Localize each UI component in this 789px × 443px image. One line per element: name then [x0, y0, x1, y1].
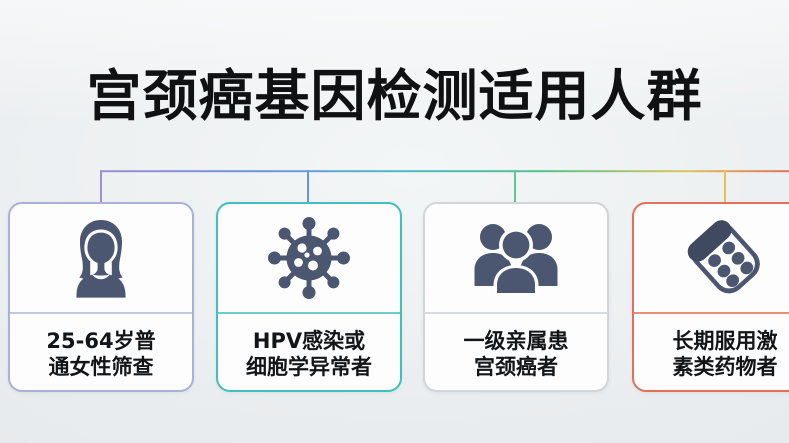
- card-label: 长期服用激 素类药物者: [634, 314, 789, 392]
- card-label-line1: HPV感染或: [253, 328, 365, 354]
- card-label: 一级亲属患 宫颈癌者: [425, 314, 607, 392]
- card-icon-area: [425, 204, 607, 312]
- card-screening[interactable]: 25-64岁普 通女性筛查: [8, 202, 194, 392]
- card-hpv[interactable]: HPV感染或 细胞学异常者: [216, 202, 402, 392]
- card-icon-area: [10, 204, 192, 312]
- people-group-icon: [468, 220, 564, 296]
- card-family-history[interactable]: 一级亲属患 宫颈癌者: [423, 202, 609, 392]
- card-label-line1: 25-64岁普: [46, 328, 155, 354]
- card-label-line1: 长期服用激: [673, 328, 778, 354]
- virus-icon: [268, 217, 350, 299]
- poster-canvas: 宫颈癌基因检测适用人群: [0, 0, 789, 443]
- card-label-line2: 素类药物者: [673, 354, 778, 380]
- connector-drop-2: [307, 170, 309, 202]
- connector-rail: [101, 170, 789, 172]
- audience-card-row: 25-64岁普 通女性筛查: [0, 202, 789, 397]
- connector-drop-4: [724, 170, 726, 202]
- page-title: 宫颈癌基因检测适用人群: [0, 64, 789, 128]
- pill-pack-icon: [682, 217, 768, 299]
- connector-drop-1: [100, 170, 102, 202]
- card-label-line2: 细胞学异常者: [246, 354, 372, 380]
- card-label-line2: 通女性筛查: [49, 354, 154, 380]
- card-label-line2: 宫颈癌者: [474, 354, 558, 380]
- card-label: 25-64岁普 通女性筛查: [10, 314, 192, 392]
- card-icon-area: [218, 204, 400, 312]
- card-label-line1: 一级亲属患: [464, 328, 569, 354]
- woman-icon: [62, 217, 140, 299]
- card-icon-area: [634, 204, 789, 312]
- card-hormone-drugs[interactable]: 长期服用激 素类药物者: [632, 202, 789, 392]
- connector-drop-3: [514, 170, 516, 202]
- card-label: HPV感染或 细胞学异常者: [218, 314, 400, 392]
